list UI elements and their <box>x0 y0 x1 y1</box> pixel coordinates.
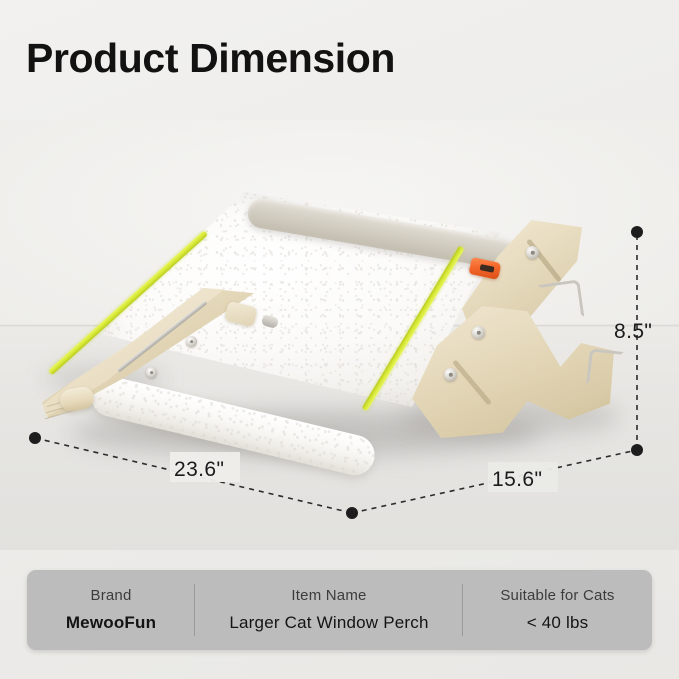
bolt-icon <box>186 336 197 347</box>
cat-window-perch <box>0 120 679 550</box>
info-column-suitable-for-cats: Suitable for Cats < 40 lbs <box>463 570 652 650</box>
info-header-item-name: Item Name <box>291 587 366 604</box>
product-dimension-infographic: Product Dimension <box>0 0 679 679</box>
dimension-label-depth: 15.6" <box>492 468 542 492</box>
bolt-icon <box>472 326 485 339</box>
info-column-brand: Brand MewooFun <box>27 570 195 650</box>
bolt-icon <box>146 367 157 378</box>
dimension-label-width: 23.6" <box>174 458 224 482</box>
info-header-brand: Brand <box>90 587 131 604</box>
info-value-suitable-for-cats: < 40 lbs <box>527 613 589 633</box>
bolt-icon <box>444 368 457 381</box>
info-header-suitable-for-cats: Suitable for Cats <box>500 587 614 604</box>
info-column-item-name: Item Name Larger Cat Window Perch <box>195 570 463 650</box>
bracket-lower-arm <box>408 306 614 438</box>
info-value-item-name: Larger Cat Window Perch <box>229 613 428 633</box>
metal-hook-icon <box>586 348 624 387</box>
product-photo-stage <box>0 120 679 550</box>
dimension-label-height: 8.5" <box>614 320 652 344</box>
metal-hook-icon <box>538 279 585 322</box>
bolt-icon <box>526 246 539 259</box>
product-info-bar: Brand MewooFun Item Name Larger Cat Wind… <box>27 570 652 650</box>
page-title: Product Dimension <box>26 38 395 79</box>
right-mount-bracket <box>400 220 630 445</box>
info-value-brand: MewooFun <box>66 613 156 633</box>
